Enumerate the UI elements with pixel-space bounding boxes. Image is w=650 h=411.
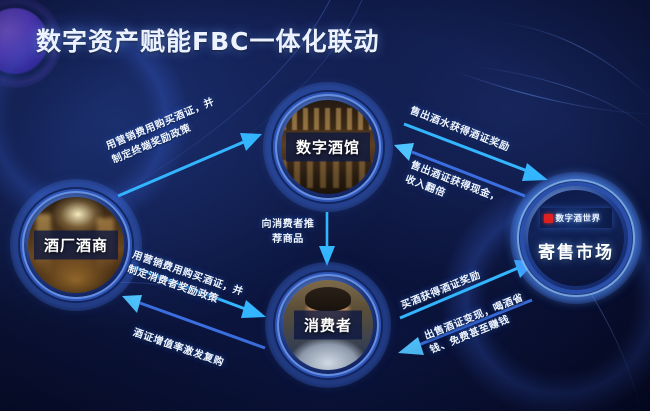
node-consumer[interactable]: 消费者 <box>275 272 381 378</box>
node-market[interactable]: 数字酒世界 寄售市场 <box>520 182 632 294</box>
node-tavern[interactable]: 数字酒馆 <box>273 92 383 202</box>
logo-badge-icon <box>544 214 553 223</box>
node-consumer-label: 消费者 <box>294 311 362 340</box>
node-supplier-label: 酒厂酒商 <box>34 231 118 260</box>
market-panel: 数字酒世界 寄售市场 <box>528 190 624 286</box>
market-logo: 数字酒世界 <box>540 208 613 228</box>
slide-canvas: 数字资产赋能FBC一体化联动 酒厂酒商 数字酒馆 消费者 数字 <box>0 0 650 411</box>
page-title: 数字资产赋能FBC一体化联动 <box>36 22 379 58</box>
arrow-label-tavern-to-consumer: 向消费者推 荐商品 <box>254 218 322 247</box>
node-supplier[interactable]: 酒厂酒商 <box>20 189 132 301</box>
node-tavern-label: 数字酒馆 <box>286 133 370 162</box>
node-market-label: 寄售市场 <box>528 238 624 263</box>
market-logo-text: 数字酒世界 <box>556 212 601 224</box>
